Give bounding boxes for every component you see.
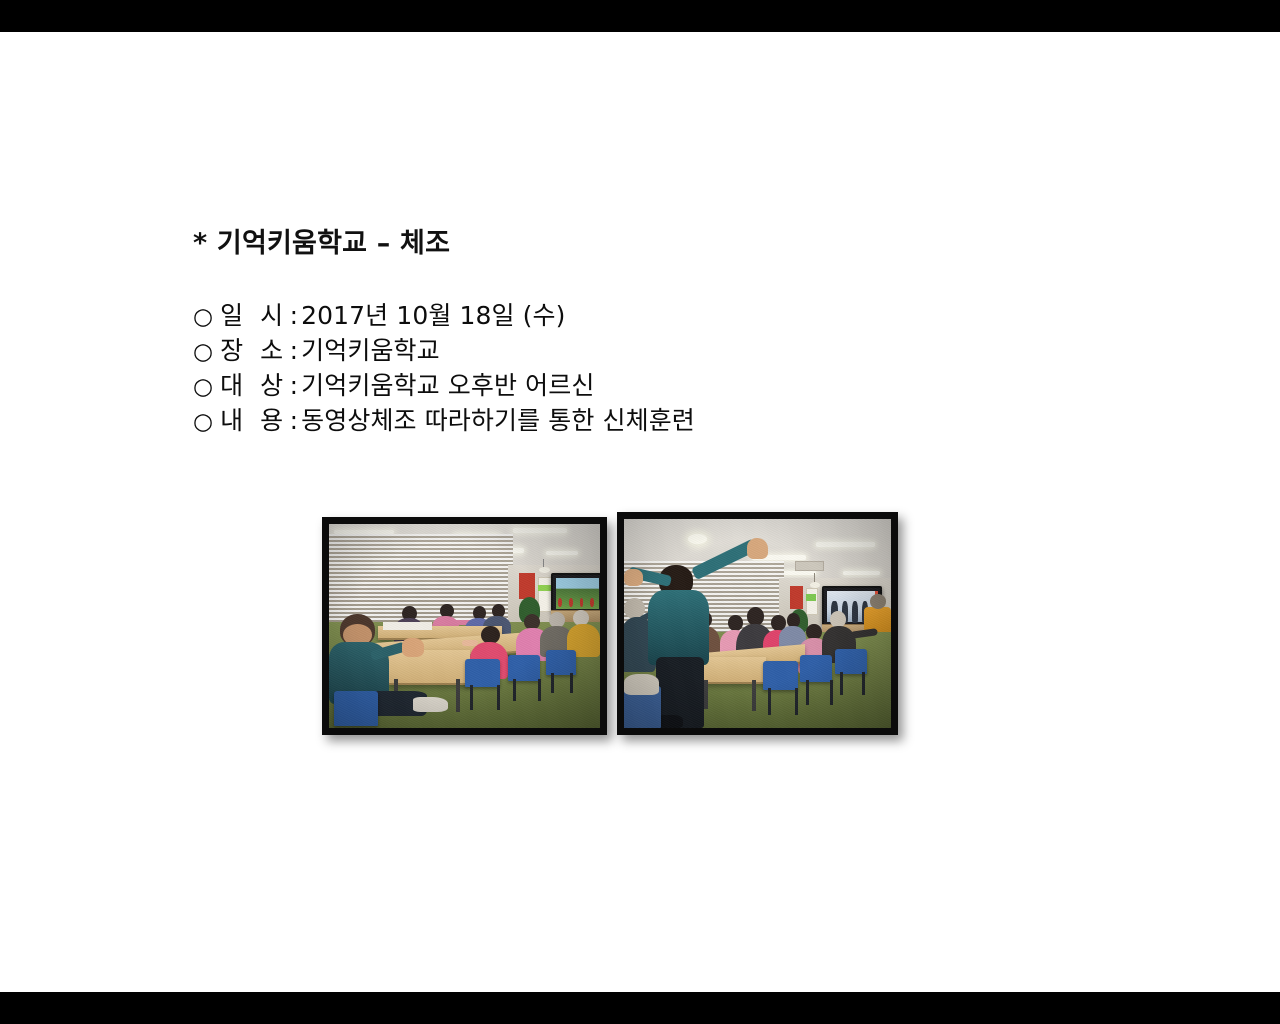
photo-right-standing-exercise[interactable]: [617, 512, 898, 735]
poster-red: [519, 573, 535, 600]
chair-leg: [806, 680, 809, 705]
instructor-shoe: [413, 697, 448, 711]
participant-head: [747, 607, 764, 626]
poster-white: [806, 588, 819, 615]
ceiling-light-icon: [843, 571, 880, 575]
tv-content-dot: [590, 598, 594, 606]
slide-text-block: * 기억키움학교 – 체조 ○일 시:2017년 10월 18일 (수) ○장 …: [193, 228, 1093, 439]
participant-arm: [462, 640, 478, 646]
foreground-object: [624, 674, 659, 695]
detail-label: 일 시: [220, 301, 287, 330]
tv-content-dot: [569, 598, 573, 606]
chair: [465, 659, 500, 688]
tv-content-dot: [558, 598, 562, 606]
list-item: ○대 상:기억키움학교 오후반 어르신: [193, 369, 1093, 404]
list-item: ○내 용:동영상체조 따라하기를 통한 신체훈련: [193, 404, 1093, 439]
tv-exercise-figure: [852, 601, 858, 623]
chair-leg: [768, 688, 771, 715]
detail-list: ○일 시:2017년 10월 18일 (수) ○장 소:기억키움학교 ○대 상:…: [193, 299, 1093, 439]
instructor-hand: [402, 638, 424, 656]
detail-value: 동영상체조 따라하기를 통한 신체훈련: [301, 406, 695, 435]
detail-label: 내 용: [220, 406, 287, 435]
participant-head: [728, 615, 743, 631]
chair-instructor: [334, 691, 377, 726]
letterbox-top: [0, 0, 1280, 32]
instructor-shoe: [659, 715, 683, 728]
bullet-circle-icon: ○: [193, 409, 213, 435]
page-title: * 기억키움학교 – 체조: [193, 228, 1093, 259]
ceiling-light-icon: [513, 528, 567, 533]
photo-left-seated-exercise[interactable]: [322, 517, 607, 735]
slide-canvas: * 기억키움학교 – 체조 ○일 시:2017년 10월 18일 (수) ○장 …: [0, 32, 1280, 992]
chair-leg: [570, 673, 573, 693]
pendant-lamp-icon: [810, 582, 821, 588]
detail-colon: :: [290, 336, 299, 365]
bullet-circle-icon: ○: [193, 339, 213, 365]
detail-colon: :: [290, 406, 299, 435]
photo-right-image: [624, 519, 891, 728]
chair-leg: [840, 672, 843, 695]
ceiling-downlight-icon: [688, 534, 707, 544]
detail-value: 기억키움학교: [301, 336, 440, 365]
chair-leg: [795, 688, 798, 715]
bullet-circle-icon: ○: [193, 374, 213, 400]
chair: [800, 655, 832, 682]
detail-value: 2017년 10월 18일 (수): [301, 301, 565, 330]
instructor-body: [648, 590, 709, 665]
table-leg: [704, 680, 708, 709]
chair-leg: [862, 672, 865, 695]
chair-leg: [513, 679, 516, 701]
poster-accent: [806, 594, 817, 600]
list-item: ○일 시:2017년 10월 18일 (수): [193, 299, 1093, 334]
poster-red: [790, 586, 803, 609]
tv-monitor: [551, 573, 600, 614]
slide-screen: * 기억키움학교 – 체조 ○일 시:2017년 10월 18일 (수) ○장 …: [0, 0, 1280, 1024]
list-item: ○장 소:기억키움학교: [193, 334, 1093, 369]
paper-sheet: [383, 622, 432, 630]
photo-left-image: [329, 524, 600, 728]
chair-leg: [497, 685, 500, 709]
chair: [835, 649, 867, 674]
detail-colon: :: [290, 301, 299, 330]
chair-leg: [538, 679, 541, 701]
instructor-hand-left: [624, 569, 643, 586]
ceiling-vent: [795, 561, 824, 571]
chair: [763, 661, 798, 690]
chair: [508, 655, 541, 682]
detail-colon: :: [290, 371, 299, 400]
detail-label: 대 상: [220, 371, 287, 400]
bullet-circle-icon: ○: [193, 304, 213, 330]
ceiling-light-icon: [816, 542, 875, 547]
table-leg: [456, 679, 460, 712]
chair-leg: [830, 680, 833, 705]
ceiling-light-icon: [546, 551, 579, 555]
table-leg: [752, 680, 756, 711]
poster-accent: [538, 585, 552, 591]
detail-value: 기억키움학교 오후반 어르신: [301, 371, 594, 400]
participant-head: [870, 594, 886, 609]
detail-label: 장 소: [220, 336, 287, 365]
chair: [546, 650, 576, 674]
instructor-hand-right: [747, 538, 768, 559]
letterbox-bottom: [0, 992, 1280, 1024]
photo-row: [0, 32, 1280, 992]
chair-leg: [551, 673, 554, 693]
pendant-lamp-icon: [539, 567, 550, 573]
chair-leg: [470, 685, 473, 709]
